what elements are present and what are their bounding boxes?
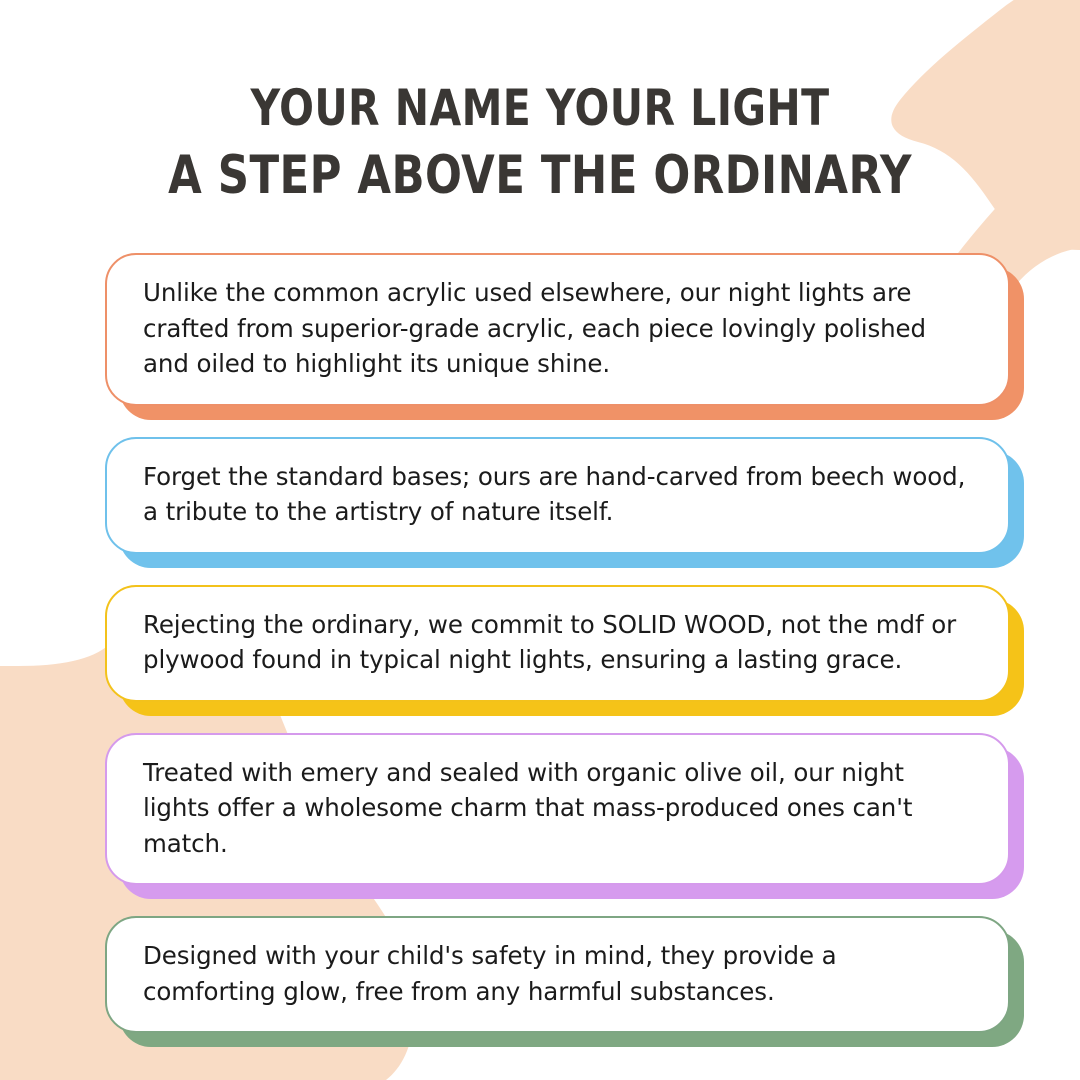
card-face: Designed with your child's safety in min… — [105, 916, 1010, 1033]
card-face: Treated with emery and sealed with organ… — [105, 733, 1010, 886]
card-text: Designed with your child's safety in min… — [143, 938, 974, 1009]
heading-line-1: YOUR NAME YOUR LIGHT — [97, 74, 983, 142]
feature-card-list: Unlike the common acrylic used elsewhere… — [105, 253, 1010, 1033]
feature-card-child-safety: Designed with your child's safety in min… — [105, 916, 1010, 1033]
feature-card-olive-oil-finish: Treated with emery and sealed with organ… — [105, 733, 1010, 886]
card-text: Forget the standard bases; ours are hand… — [143, 459, 974, 530]
card-text: Treated with emery and sealed with organ… — [143, 755, 974, 862]
poster-heading: YOUR NAME YOUR LIGHT A STEP ABOVE THE OR… — [0, 74, 1080, 210]
feature-card-acrylic: Unlike the common acrylic used elsewhere… — [105, 253, 1010, 406]
feature-card-beech-base: Forget the standard bases; ours are hand… — [105, 437, 1010, 554]
card-face: Rejecting the ordinary, we commit to SOL… — [105, 585, 1010, 702]
heading-line-2: A STEP ABOVE THE ORDINARY — [97, 142, 983, 210]
card-text: Unlike the common acrylic used elsewhere… — [143, 275, 974, 382]
poster-canvas: YOUR NAME YOUR LIGHT A STEP ABOVE THE OR… — [0, 0, 1080, 1080]
card-face: Forget the standard bases; ours are hand… — [105, 437, 1010, 554]
card-face: Unlike the common acrylic used elsewhere… — [105, 253, 1010, 406]
feature-card-solid-wood: Rejecting the ordinary, we commit to SOL… — [105, 585, 1010, 702]
card-text: Rejecting the ordinary, we commit to SOL… — [143, 607, 974, 678]
